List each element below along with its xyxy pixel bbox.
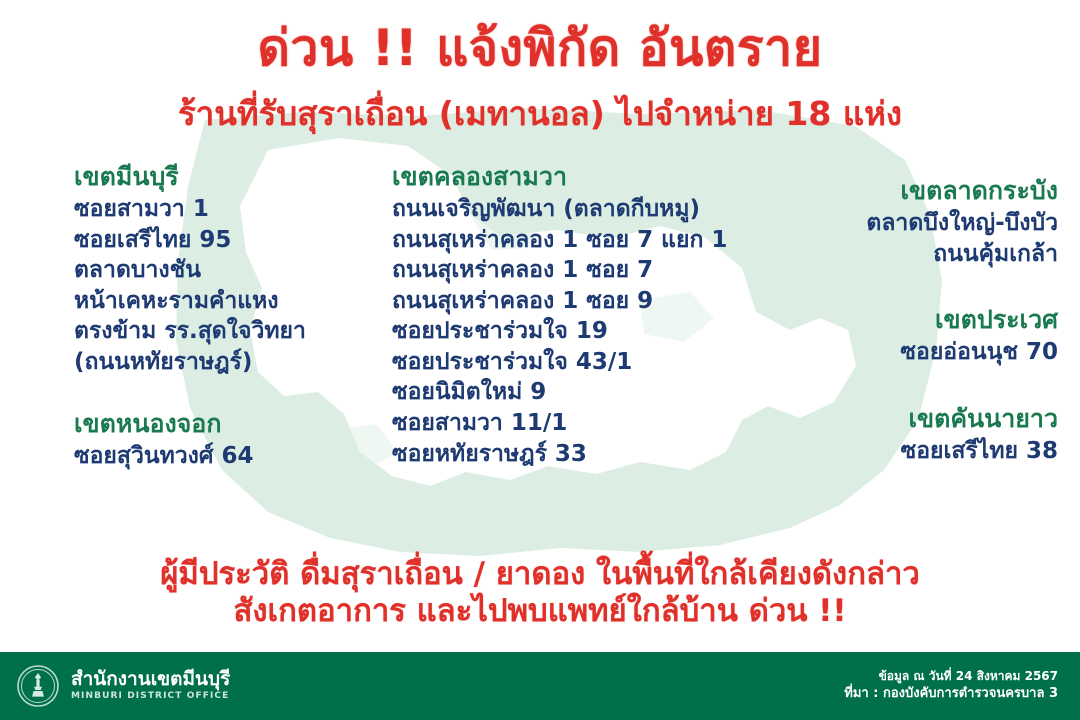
district-column-middle: เขตคลองสามวา ถนนเจริญพัฒนา (ตลาดกีบหมู) … — [392, 160, 782, 473]
place-item: ถนนสุเหร่าคลอง 1 ซอย 9 — [392, 286, 782, 317]
district-group-khlongsamwa: เขตคลองสามวา ถนนเจริญพัฒนา (ตลาดกีบหมู) … — [392, 160, 782, 469]
place-item: ถนนคุ้มเกล้า — [770, 239, 1058, 270]
office-name-en: MINBURI DISTRICT OFFICE — [71, 692, 230, 701]
place-item: ซอยอ่อนนุช 70 — [770, 337, 1058, 368]
place-item: ซอยสามวา 11/1 — [392, 408, 782, 439]
place-item: ตรงข้าม รร.สุดใจวิทยา — [74, 316, 374, 347]
place-item: หน้าเคหะรามคำแหง — [74, 286, 374, 317]
district-heading: เขตลาดกระบัง — [770, 174, 1058, 207]
district-heading: เขตหนองจอก — [74, 407, 374, 440]
place-item: ถนนสุเหร่าคลอง 1 ซอย 7 แยก 1 — [392, 225, 782, 256]
place-item: ซอยเสรีไทย 38 — [770, 436, 1058, 467]
office-name-th: สำนักงานเขตมีนบุรี — [71, 670, 230, 690]
district-group-prawet: เขตประเวศ ซอยอ่อนนุช 70 — [770, 303, 1058, 368]
district-heading: เขตมีนบุรี — [74, 160, 374, 193]
place-item: ซอยสุวินทวงศ์ 64 — [74, 441, 374, 472]
district-column-left: เขตมีนบุรี ซอยสามวา 1 ซอยเสรีไทย 95 ตลาด… — [74, 160, 374, 476]
minburi-seal-icon — [16, 664, 60, 708]
footer-bar: สำนักงานเขตมีนบุรี MINBURI DISTRICT OFFI… — [0, 652, 1080, 720]
health-warning-text: ผู้มีประวัติ ดื่มสุราเถื่อน / ยาดอง ในพื… — [0, 556, 1080, 630]
warning-line-1: ผู้มีประวัติ ดื่มสุราเถื่อน / ยาดอง ในพื… — [0, 556, 1080, 593]
column-spacer — [770, 368, 1058, 402]
district-group-khannayao: เขตคันนายาว ซอยเสรีไทย 38 — [770, 402, 1058, 467]
place-item: ซอยนิมิตใหม่ 9 — [392, 377, 782, 408]
footer-branding: สำนักงานเขตมีนบุรี MINBURI DISTRICT OFFI… — [16, 664, 230, 708]
page-subtitle: ร้านที่รับสุราเถื่อน (เมทานอล) ไปจำหน่าย… — [0, 96, 1080, 132]
district-heading: เขตประเวศ — [770, 303, 1058, 336]
column-spacer — [74, 381, 374, 407]
place-item: (ถนนหทัยราษฎร์) — [74, 347, 374, 378]
place-item: ซอยเสรีไทย 95 — [74, 225, 374, 256]
place-item: ถนนเจริญพัฒนา (ตลาดกีบหมู) — [392, 194, 782, 225]
district-column-right: เขตลาดกระบัง ตลาดบึงใหญ่-บึงบัว ถนนคุ้มเ… — [770, 160, 1058, 466]
place-item: ซอยสามวา 1 — [74, 194, 374, 225]
column-spacer — [770, 269, 1058, 303]
district-heading: เขตคลองสามวา — [392, 160, 782, 193]
place-item: ถนนสุเหร่าคลอง 1 ซอย 7 — [392, 255, 782, 286]
warning-line-2: สังเกตอาการ และไปพบแพทย์ใกล้บ้าน ด่วน !! — [0, 593, 1080, 630]
district-heading: เขตคันนายาว — [770, 402, 1058, 435]
footer-office-names: สำนักงานเขตมีนบุรี MINBURI DISTRICT OFFI… — [71, 670, 230, 701]
place-item: ซอยหทัยราษฎร์ 33 — [392, 439, 782, 470]
column-spacer — [770, 160, 1058, 174]
place-item: ตลาดบึงใหญ่-บึงบัว — [770, 208, 1058, 239]
place-item: ตลาดบางชัน — [74, 255, 374, 286]
infographic-poster: ด่วน !! แจ้งพิกัด อันตราย ร้านที่รับสุรา… — [0, 0, 1080, 720]
footer-notes: ข้อมูล ณ วันที่ 24 สิงหาคม 2567 ที่มา : … — [844, 668, 1058, 704]
data-date-note: ข้อมูล ณ วันที่ 24 สิงหาคม 2567 — [844, 668, 1058, 685]
source-note: ที่มา : กองบังคับการตำรวจนครบาล 3 — [844, 685, 1058, 704]
district-group-minburi: เขตมีนบุรี ซอยสามวา 1 ซอยเสรีไทย 95 ตลาด… — [74, 160, 374, 377]
district-group-nongchok: เขตหนองจอก ซอยสุวินทวงศ์ 64 — [74, 407, 374, 472]
place-item: ซอยประชาร่วมใจ 19 — [392, 316, 782, 347]
place-item: ซอยประชาร่วมใจ 43/1 — [392, 347, 782, 378]
district-group-latkrabang: เขตลาดกระบัง ตลาดบึงใหญ่-บึงบัว ถนนคุ้มเ… — [770, 174, 1058, 269]
page-title: ด่วน !! แจ้งพิกัด อันตราย — [0, 22, 1080, 75]
